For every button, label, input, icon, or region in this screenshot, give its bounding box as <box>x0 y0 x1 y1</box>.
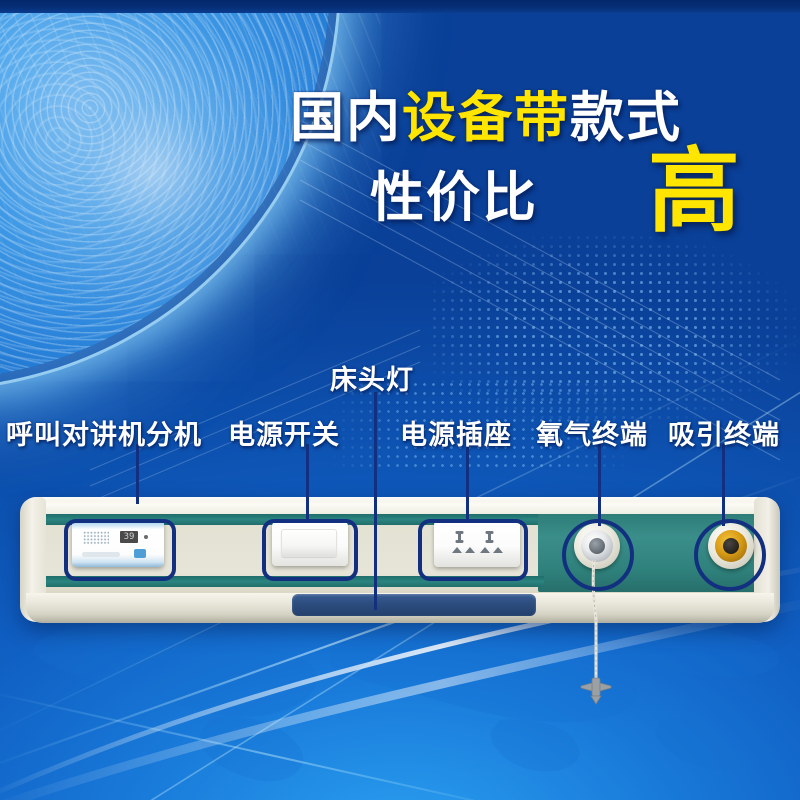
headline-seg-2: 设备带 <box>402 86 570 149</box>
callout-label-bed-lamp: 床头灯 <box>330 358 414 397</box>
highlight-box-intercom <box>64 519 176 581</box>
highlight-circle-suction-terminal <box>694 519 766 591</box>
headline-line-2: 性价比 <box>370 168 538 228</box>
highlight-box-power-socket <box>418 519 528 581</box>
leader-line-suction-terminal <box>722 444 725 526</box>
callout-label-suction-terminal: 吸引终端 <box>668 413 780 452</box>
highlight-circle-oxygen-terminal <box>562 519 634 591</box>
leader-line-power-switch <box>306 444 309 520</box>
callout-label-intercom: 呼叫对讲机分机 <box>6 413 202 452</box>
leader-line-bed-lamp <box>374 392 377 610</box>
callout-label-power-socket: 电源插座 <box>400 413 512 452</box>
highlight-box-power-switch <box>262 519 358 581</box>
leader-line-power-socket <box>466 444 469 520</box>
leader-line-oxygen-terminal <box>598 444 601 526</box>
headline-emphasis-word: 高 <box>648 146 740 238</box>
callout-label-power-switch: 电源开关 <box>228 413 340 452</box>
product-poster: 国内设备带款式 性价比 高 39 <box>0 0 800 800</box>
headline-seg-1: 国内 <box>290 86 402 149</box>
callout-label-oxygen-terminal: 氧气终端 <box>536 413 648 452</box>
headline-line-1: 国内设备带款式 <box>290 88 682 148</box>
leader-line-intercom <box>136 444 139 504</box>
